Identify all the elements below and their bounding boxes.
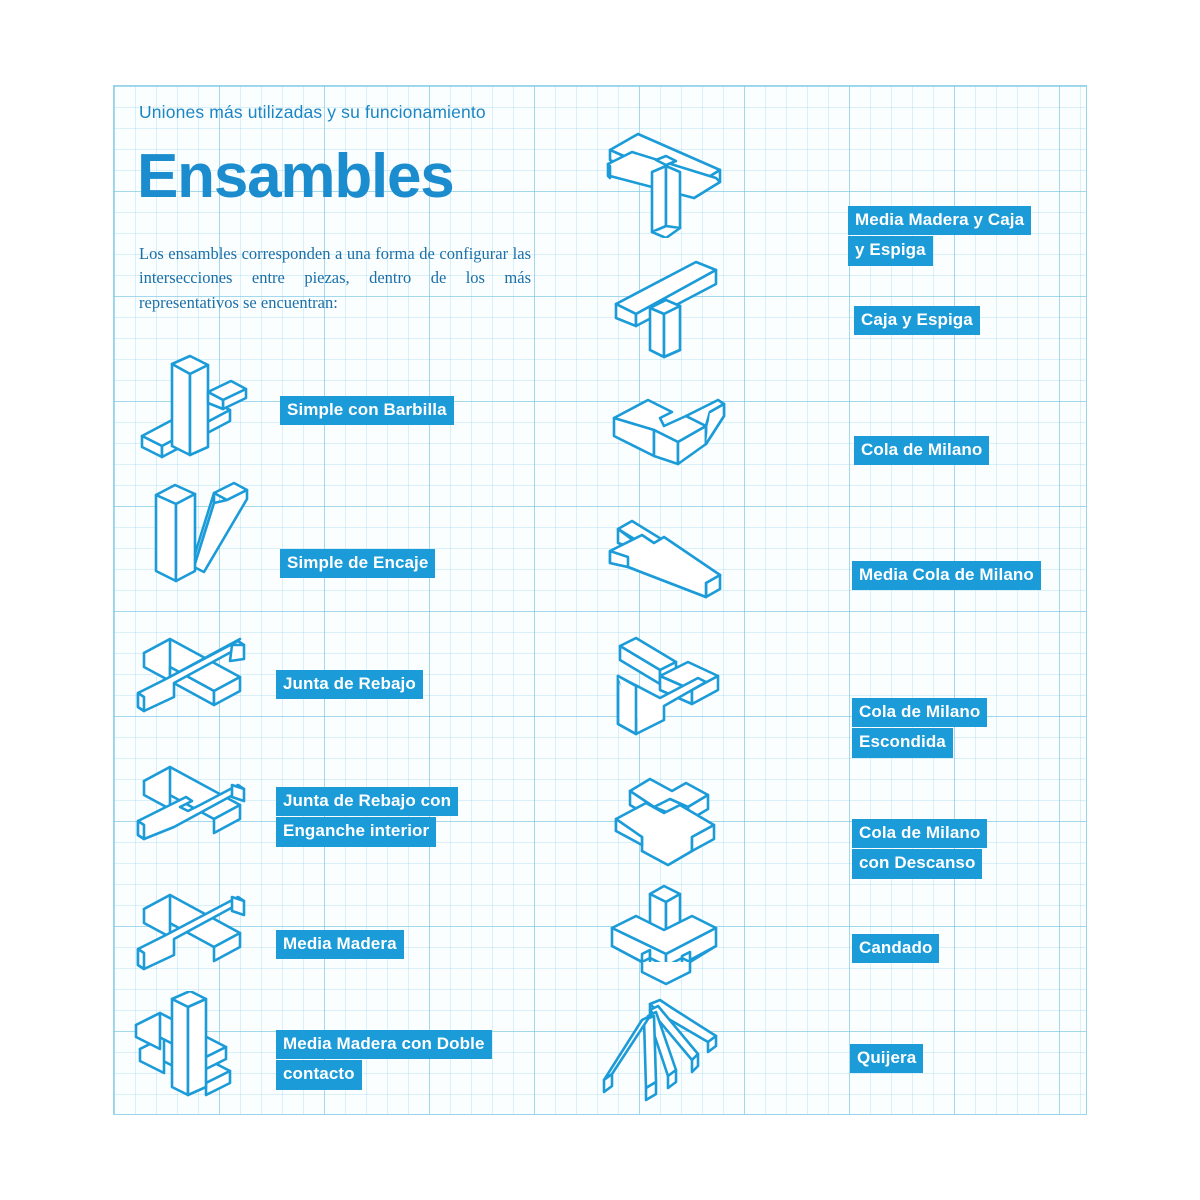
- joint-item-junta-de-rebajo-con-enganche[interactable]: Junta de Rebajo con Enganche interior: [126, 751, 506, 869]
- poster-sheet: Uniones más utilizadas y su funcionamien…: [113, 85, 1087, 1115]
- joint-label-group: Cola de Milano con Descanso: [852, 819, 987, 879]
- joint-label-group: Caja y Espiga: [854, 306, 980, 335]
- joint-label-line: Simple de Encaje: [280, 549, 435, 578]
- joint-label-group: Media Madera con Doble contacto: [276, 1030, 492, 1090]
- joint-caja-y-espiga-icon: [606, 256, 726, 368]
- joint-item-cola-de-milano[interactable]: Cola de Milano: [606, 386, 1026, 496]
- joint-item-media-madera-con-doble-contacto[interactable]: Media Madera con Doble contacto: [126, 991, 546, 1109]
- joint-label-group: Junta de Rebajo con Enganche interior: [276, 787, 458, 847]
- joint-label-line: Media Cola de Milano: [852, 561, 1041, 590]
- joint-label-line: Cola de Milano: [854, 436, 989, 465]
- joint-media-madera-y-caja-y-espiga-icon: [602, 116, 728, 238]
- joint-simple-de-encaje-icon: [134, 471, 252, 589]
- joint-item-cola-de-milano-escondida[interactable]: Cola de Milano Escondida: [602, 636, 1022, 748]
- joint-label-line: Cola de Milano: [852, 698, 987, 727]
- joint-label-line: Junta de Rebajo: [276, 670, 423, 699]
- joint-item-candado[interactable]: Candado: [602, 876, 1022, 996]
- joint-label-group: Cola de Milano Escondida: [852, 698, 987, 758]
- joint-label-line: Escondida: [852, 728, 953, 757]
- joint-media-madera-icon: [126, 881, 252, 993]
- joint-cola-de-milano-icon: [606, 386, 726, 496]
- joint-item-media-madera[interactable]: Media Madera: [126, 881, 486, 993]
- joint-label-line: Media Madera y Caja: [848, 206, 1031, 235]
- joint-label-line: Junta de Rebajo con: [276, 787, 458, 816]
- joint-label-line: Media Madera con Doble: [276, 1030, 492, 1059]
- joint-label-line: con Descanso: [852, 849, 982, 878]
- joint-junta-de-rebajo-icon: [126, 621, 252, 733]
- joint-media-madera-con-doble-contacto-icon: [126, 991, 252, 1109]
- joint-item-quijera[interactable]: Quijera: [598, 996, 1018, 1106]
- joint-label-line: Simple con Barbilla: [280, 396, 454, 425]
- joint-label-group: Simple con Barbilla: [280, 396, 454, 425]
- joint-label-group: Media Madera: [276, 930, 404, 959]
- joint-label-line: Media Madera: [276, 930, 404, 959]
- joint-label-line: Candado: [852, 934, 939, 963]
- intro-paragraph: Los ensambles corresponden a una forma d…: [139, 242, 531, 315]
- joint-media-cola-de-milano-icon: [602, 511, 728, 621]
- joint-item-media-cola-de-milano[interactable]: Media Cola de Milano: [602, 511, 1022, 621]
- joint-simple-con-barbilla-icon: [134, 348, 252, 466]
- joint-item-simple-de-encaje[interactable]: Simple de Encaje: [134, 471, 494, 589]
- joint-junta-de-rebajo-con-enganche-interior-icon: [126, 751, 252, 863]
- joint-label-group: Simple de Encaje: [280, 549, 435, 578]
- joint-item-media-madera-y-caja-y-espiga[interactable]: Media Madera y Caja y Espiga: [602, 116, 1022, 238]
- joint-label-group: Media Cola de Milano: [852, 561, 1041, 590]
- joint-label-line: Cola de Milano: [852, 819, 987, 848]
- poster-subtitle: Uniones más utilizadas y su funcionamien…: [139, 102, 486, 123]
- joint-candado-icon: [602, 876, 728, 996]
- joint-label-line: Quijera: [850, 1044, 923, 1073]
- joint-label-line: contacto: [276, 1060, 362, 1089]
- joint-item-junta-de-rebajo[interactable]: Junta de Rebajo: [126, 621, 486, 733]
- joint-cola-de-milano-escondida-icon: [602, 636, 728, 748]
- joint-item-cola-de-milano-con-descanso[interactable]: Cola de Milano con Descanso: [602, 761, 1022, 881]
- joint-label-group: Candado: [852, 934, 939, 963]
- joint-label-group: Junta de Rebajo: [276, 670, 423, 699]
- joint-label-group: Quijera: [850, 1044, 923, 1073]
- joint-label-line: Caja y Espiga: [854, 306, 980, 335]
- joint-label-line: Enganche interior: [276, 817, 436, 846]
- joint-item-caja-y-espiga[interactable]: Caja y Espiga: [606, 256, 1026, 368]
- joint-quijera-icon: [598, 996, 724, 1106]
- joint-item-simple-con-barbilla[interactable]: Simple con Barbilla: [134, 348, 494, 466]
- page-title: Ensambles: [137, 146, 454, 208]
- joint-label-group: Cola de Milano: [854, 436, 989, 465]
- joint-cola-de-milano-con-descanso-icon: [602, 761, 728, 881]
